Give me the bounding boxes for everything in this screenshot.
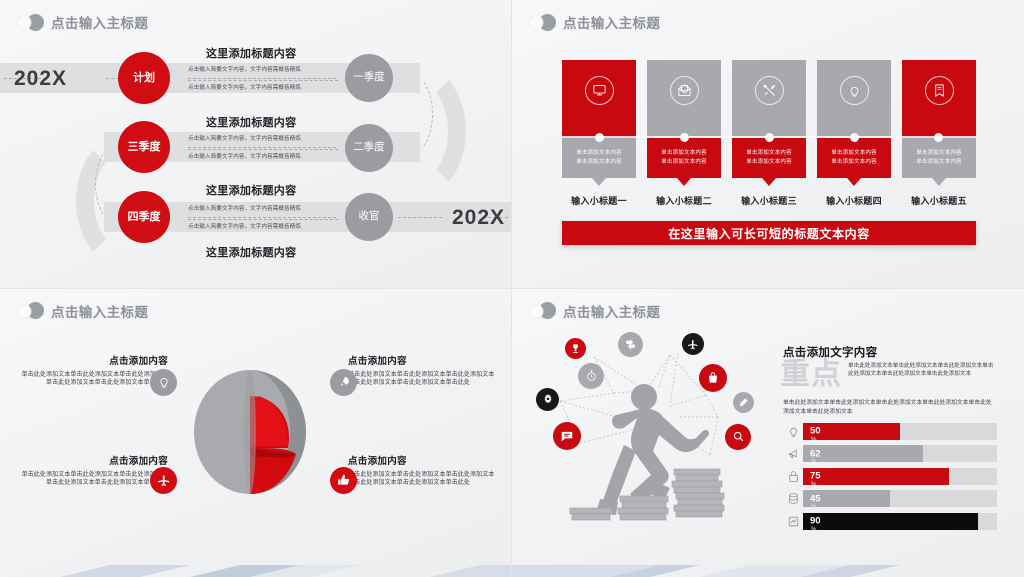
bar-unit-5: % <box>811 527 816 533</box>
signpost-icon[interactable] <box>618 332 643 357</box>
card-2-line-1: 单击添加文本内容 <box>661 151 707 157</box>
lock-icon <box>783 470 803 483</box>
bar-value-2: 62 <box>810 448 821 459</box>
search-icon[interactable] <box>725 424 751 450</box>
card-1-label: 输入小标题一 <box>562 194 636 207</box>
info-block-2-title: 点击添加内容 <box>348 353 498 367</box>
card-4-top <box>817 60 891 138</box>
bottom-decorative-band <box>0 563 1024 577</box>
slide-title: 点击输入主标题 <box>51 301 148 321</box>
footer-banner-text: 在这里输入可长可短的标题文本内容 <box>668 225 870 242</box>
bar-fill-3 <box>803 468 949 485</box>
card-3-bottom: 单击添加文本内容 单击添加文本内容 <box>732 138 806 178</box>
bar-value-4: 45 <box>810 493 821 504</box>
node-q4[interactable]: 四季度 <box>118 191 170 243</box>
info-block-1-title: 点击添加内容 <box>18 353 168 367</box>
panel-big-word: 重点 <box>780 360 842 390</box>
card-1-top <box>562 60 636 138</box>
gear-icon[interactable] <box>536 388 559 411</box>
slide-title: 点击输入主标题 <box>51 12 148 32</box>
card-3-label: 输入小标题三 <box>732 194 806 207</box>
airplane-icon[interactable] <box>682 333 704 355</box>
bar-row-3: 75 % <box>783 468 997 485</box>
info-block-2-body: 单击此处添加文本单击此处添加文本单击此处添加文本单击此处添加文本单击此处添加文本… <box>348 371 498 388</box>
row-3-title: 这里添加标题内容 <box>206 182 296 198</box>
slide-2-header: 点击输入主标题 <box>530 12 660 32</box>
bar-unit-3: % <box>811 482 816 488</box>
dash-right-end <box>398 217 442 218</box>
card-1-line-1: 单击添加文本内容 <box>576 151 622 157</box>
info-block-4-body: 单击此处添加文本单击此处添加文本单击此处添加文本单击此处添加文本单击此处添加文本… <box>348 471 498 488</box>
row-3-line-1: 点击输入简要文字内容，文字内容需概括精炼 <box>188 207 338 213</box>
info-block-4-title: 点击添加内容 <box>348 453 498 467</box>
lightbulb-icon <box>840 76 869 105</box>
cutaway-sphere-graphic <box>188 362 324 498</box>
row-2-line-2: 点击输入简要文字内容，文字内容需概括精炼 <box>188 155 338 161</box>
presentation-sheet: 点击输入主标题 202X 202X 计划 三季度 四季度 一季度 二季度 收官 … <box>0 0 1024 577</box>
bar-unit-1: % <box>811 437 816 443</box>
chat-icon[interactable] <box>553 422 581 450</box>
row-1-title: 这里添加标题内容 <box>206 45 296 61</box>
node-q2[interactable]: 二季度 <box>345 124 393 172</box>
airplane-icon[interactable] <box>150 467 177 494</box>
bar-row-1: 50 % <box>783 423 997 440</box>
megaphone-icon <box>783 447 803 460</box>
node-q3[interactable]: 三季度 <box>118 121 170 173</box>
card-5-line-2: 单击添加文本内容 <box>916 160 962 166</box>
card-5-label: 输入小标题五 <box>902 194 976 207</box>
double-circle-icon <box>18 14 44 31</box>
year-start: 202X <box>14 67 67 91</box>
card-3-line-1: 单击添加文本内容 <box>746 151 792 157</box>
row-2-line-1: 点击输入简要文字内容，文字内容需概括精炼 <box>188 137 338 143</box>
bar-track-4: 45 % <box>803 490 997 507</box>
lightbulb-icon <box>783 425 803 438</box>
card-3-line-2: 单击添加文本内容 <box>746 160 792 166</box>
bar-value-1: 50 <box>810 426 821 437</box>
slide-1-header: 点击输入主标题 <box>18 12 148 32</box>
bookmark-icon <box>925 76 954 105</box>
lightbulb-icon[interactable] <box>150 369 177 396</box>
row-3-line-2: 点击输入简要文字内容，文字内容需概括精炼 <box>188 225 338 231</box>
card-connector-line <box>562 136 976 138</box>
bar-track-2: 62 % <box>803 445 997 462</box>
year-end: 202X <box>452 206 505 230</box>
node-finish[interactable]: 收官 <box>345 193 393 241</box>
card-4-label: 输入小标题四 <box>817 194 891 207</box>
slide-2: 点击输入主标题 单击添加文本内容 单击添加文本内容 输入小标题一 <box>512 0 1024 289</box>
info-block-1-body: 单击此处添加文本单击此处添加文本单击此处添加文本单击此处添加文本单击此处添加文本… <box>18 371 168 388</box>
node-plan[interactable]: 计划 <box>118 52 170 104</box>
rocket-icon[interactable] <box>330 369 357 396</box>
card-2-line-2: 单击添加文本内容 <box>661 160 707 166</box>
bar-row-4: 45 % <box>783 490 997 507</box>
progress-bar-chart: 50 % 62 % 75 <box>783 423 997 536</box>
slide-1: 点击输入主标题 202X 202X 计划 三季度 四季度 一季度 二季度 收官 … <box>0 0 512 289</box>
card-2-label: 输入小标题二 <box>647 194 721 207</box>
horizontal-divider <box>0 288 1024 289</box>
card-2-top <box>647 60 721 138</box>
row-1-line-1: 点击输入简要文字内容，文字内容需概括精炼 <box>188 68 338 74</box>
card-3-top <box>732 60 806 138</box>
bar-track-3: 75 % <box>803 468 997 485</box>
card-5-top <box>902 60 976 138</box>
slide-3-header: 点击输入主标题 <box>18 301 148 321</box>
slide-4: 点击输入主标题 <box>512 289 1024 577</box>
tools-icon <box>755 76 784 105</box>
card-5-line-1: 单击添加文本内容 <box>916 151 962 157</box>
pen-icon[interactable] <box>733 392 754 413</box>
shopping-bag-icon[interactable] <box>699 364 727 392</box>
footer-banner[interactable]: 在这里输入可长可短的标题文本内容 <box>562 221 976 245</box>
slide-3: 点击输入主标题 点击添加内容 单击此处添加文本单击此处添加文本单击此处添加文本单… <box>0 289 512 577</box>
bar-fill-2 <box>803 445 923 462</box>
card-2-bottom: 单击添加文本内容 单击添加文本内容 <box>647 138 721 178</box>
bar-fill-5 <box>803 513 978 530</box>
mail-document-icon <box>670 76 699 105</box>
card-4-line-2: 单击添加文本内容 <box>831 160 877 166</box>
slide-title: 点击输入主标题 <box>563 12 660 32</box>
info-block-3-title: 点击添加内容 <box>18 453 168 467</box>
info-block-3-body: 单击此处添加文本单击此处添加文本单击此处添加文本单击此处添加文本单击此处添加文本… <box>18 471 168 488</box>
card-1-bottom: 单击添加文本内容 单击添加文本内容 <box>562 138 636 178</box>
bar-value-3: 75 <box>810 471 821 482</box>
double-circle-icon <box>530 14 556 31</box>
bar-track-5: 90 % <box>803 513 997 530</box>
row-1-line-2: 点击输入简要文字内容，文字内容需概括精炼 <box>188 86 338 92</box>
info-block-3: 点击添加内容 单击此处添加文本单击此处添加文本单击此处添加文本单击此处添加文本单… <box>18 453 168 488</box>
bar-row-5: 90 % <box>783 513 997 530</box>
panel-paragraph-2: 单击此处添加文本单击此处添加文本单击此处添加文本单击此处添加文本单击此处添加文本… <box>783 399 996 418</box>
thumbs-up-icon[interactable] <box>330 467 357 494</box>
bar-track-1: 50 % <box>803 423 997 440</box>
info-block-2: 点击添加内容 单击此处添加文本单击此处添加文本单击此处添加文本单击此处添加文本单… <box>348 353 498 388</box>
info-block-4: 点击添加内容 单击此处添加文本单击此处添加文本单击此处添加文本单击此处添加文本单… <box>348 453 498 488</box>
row-3-text: 点击输入简要文字内容，文字内容需概括精炼 点击输入简要文字内容，文字内容需概括精… <box>188 207 338 230</box>
double-circle-icon <box>530 302 556 319</box>
stopwatch-icon[interactable] <box>578 363 604 389</box>
slide-4-header: 点击输入主标题 <box>530 301 660 321</box>
slide-title: 点击输入主标题 <box>563 301 660 321</box>
row-2-title: 这里添加标题内容 <box>206 114 296 130</box>
row-3-title-bottom: 这里添加标题内容 <box>206 244 296 260</box>
database-icon <box>783 492 803 505</box>
card-4-line-1: 单击添加文本内容 <box>831 151 877 157</box>
row-2-text: 点击输入简要文字内容，文字内容需概括精炼 点击输入简要文字内容，文字内容需概括精… <box>188 137 338 160</box>
card-5-bottom: 单击添加文本内容 单击添加文本内容 <box>902 138 976 178</box>
chart-icon <box>783 515 803 528</box>
trophy-icon[interactable] <box>565 338 586 359</box>
card-1-line-2: 单击添加文本内容 <box>576 160 622 166</box>
bar-row-2: 62 % <box>783 445 997 462</box>
double-circle-icon <box>18 302 44 319</box>
info-block-1: 点击添加内容 单击此处添加文本单击此处添加文本单击此处添加文本单击此处添加文本单… <box>18 353 168 388</box>
bar-value-5: 90 <box>810 516 821 527</box>
card-4-bottom: 单击添加文本内容 单击添加文本内容 <box>817 138 891 178</box>
row-1-text: 点击输入简要文字内容，文字内容需概括精炼 点击输入简要文字内容，文字内容需概括精… <box>188 68 338 91</box>
bar-unit-2: % <box>811 459 816 465</box>
node-q1[interactable]: 一季度 <box>345 54 393 102</box>
bar-unit-4: % <box>811 504 816 510</box>
panel-paragraph-1: 单击此处添加文本单击此处添加文本单击此处添加文本单击此处添加文本单击此处添加文本… <box>848 362 996 379</box>
monitor-icon <box>585 76 614 105</box>
